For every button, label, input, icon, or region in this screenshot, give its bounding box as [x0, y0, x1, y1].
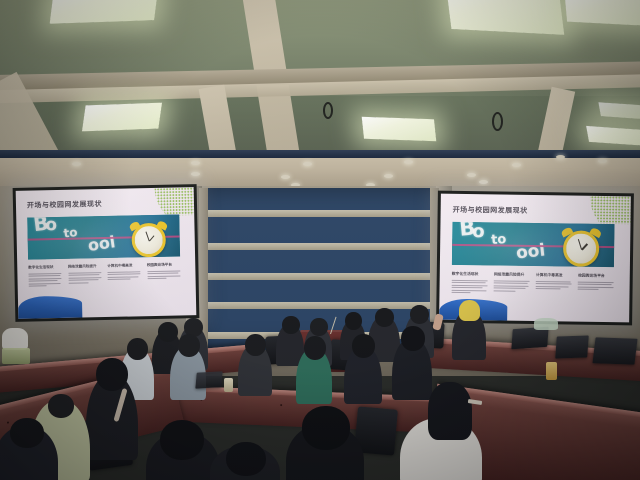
slide-column: 计算机中毒高发: [536, 273, 572, 297]
audience-head: [245, 334, 266, 356]
slide-columns: 数字化生活现状 网络泄露风险提升 计算机中毒: [451, 272, 613, 297]
plastic-bag: [2, 328, 28, 350]
plastic-bag: [534, 318, 558, 330]
slide-corner-dots-icon: [581, 196, 631, 224]
downlight: [281, 175, 290, 179]
slide-column-heading: 数字化生活现状: [28, 265, 62, 271]
laptop: [555, 335, 589, 358]
downlight: [598, 159, 607, 163]
slide-column-body: [147, 270, 181, 279]
slide-column-heading: 校园舆论场平台: [578, 274, 614, 279]
audience-head: [459, 300, 480, 321]
downlight: [191, 161, 200, 165]
ceiling-light-5: [362, 117, 437, 141]
audience-head: [96, 358, 128, 391]
slide-column: 网络泄露风险提升: [494, 272, 530, 296]
ceiling-light-2: [446, 0, 565, 35]
ceiling-cable-right: [492, 112, 503, 131]
audience-head: [352, 334, 375, 358]
slide-column-body: [68, 272, 102, 284]
slide-title: 开场与校园网发展现状: [27, 199, 102, 211]
slide-column: 数字化生活现状: [451, 272, 487, 296]
laptop: [511, 327, 548, 350]
audience-head: [428, 382, 472, 440]
slide-column-body: [28, 272, 62, 287]
slide-column-body: [578, 281, 614, 290]
clock-hand-minute: [578, 239, 583, 250]
slide-column: 网络泄露风险提升: [68, 264, 102, 288]
slide-column-body: [494, 280, 530, 292]
audience-head: [410, 305, 429, 324]
audience-area: [0, 300, 640, 480]
audience-head: [375, 308, 394, 327]
slide-column-heading: 网络泄露风险提升: [68, 264, 102, 270]
downlight: [72, 162, 81, 166]
downlight: [384, 174, 393, 178]
slide-column: 数字化生活现状: [28, 265, 62, 289]
slide-column: 计算机中毒高发: [107, 263, 141, 287]
audience-head: [345, 312, 362, 330]
slide-column-body: [107, 271, 141, 280]
slide-title: 开场与校园网发展现状: [453, 205, 528, 216]
ceiling-light-1: [50, 0, 159, 24]
ceiling-light-4: [82, 103, 162, 132]
slide-column-body: [451, 279, 487, 293]
panel-stripe: [199, 243, 439, 250]
slide-hero-image: B o to ool: [452, 222, 615, 267]
audience-head: [226, 442, 266, 476]
panel-stripe: [199, 210, 439, 217]
audience-head: [160, 420, 204, 460]
desk-screw: [7, 421, 9, 423]
drink-cup: [224, 378, 233, 392]
slide-column-heading: 计算机中毒高发: [107, 263, 141, 269]
slide-hero-image: B o to ool: [27, 214, 180, 259]
panel-stripe: [199, 273, 439, 280]
downlight: [467, 173, 476, 177]
desk-screw: [280, 404, 282, 406]
desk-items-left: [2, 348, 30, 364]
slide-column-heading: 数字化生活现状: [452, 272, 488, 277]
audience-head: [158, 322, 178, 342]
audience-head: [178, 334, 200, 357]
slide-column: 校园舆论场平台: [578, 274, 614, 298]
slide-columns: 数字化生活现状 网络泄露风险提升 计算机中毒: [28, 262, 180, 288]
slide-column-heading: 计算机中毒高发: [536, 273, 572, 278]
chalk-text-o1: o: [45, 217, 57, 234]
audience-head: [282, 316, 300, 334]
chalk-text-o1: o: [472, 223, 486, 241]
audience-head: [48, 394, 74, 418]
slide-column-body: [536, 281, 572, 290]
downlight: [191, 172, 200, 176]
audience-head: [127, 338, 148, 360]
audience-head: [401, 326, 425, 351]
ceiling-cable-left: [323, 102, 333, 119]
laptop: [195, 371, 222, 388]
audience-head: [302, 406, 350, 450]
laptop: [592, 337, 637, 364]
downlight: [512, 163, 521, 167]
slide-corner-dots-icon: [147, 187, 194, 216]
audience-head: [10, 418, 44, 448]
slide-column-heading: 校园舆论场平台: [147, 262, 181, 268]
slide-column: 校园舆论场平台: [147, 262, 181, 286]
downlight: [404, 160, 413, 164]
audience-head: [304, 336, 326, 360]
soffit-accent-band: [0, 150, 640, 158]
drink-cup: [546, 362, 557, 380]
audience-head: [310, 318, 328, 336]
downlight: [479, 180, 488, 184]
downlight: [303, 162, 312, 166]
clock-hand-minute: [145, 231, 149, 241]
lecture-hall-photo: 开场与校园网发展现状 B o to ool 数字化生活现状: [0, 0, 640, 480]
slide-column-heading: 网络泄露风险提升: [494, 272, 530, 277]
downlight: [556, 155, 565, 159]
